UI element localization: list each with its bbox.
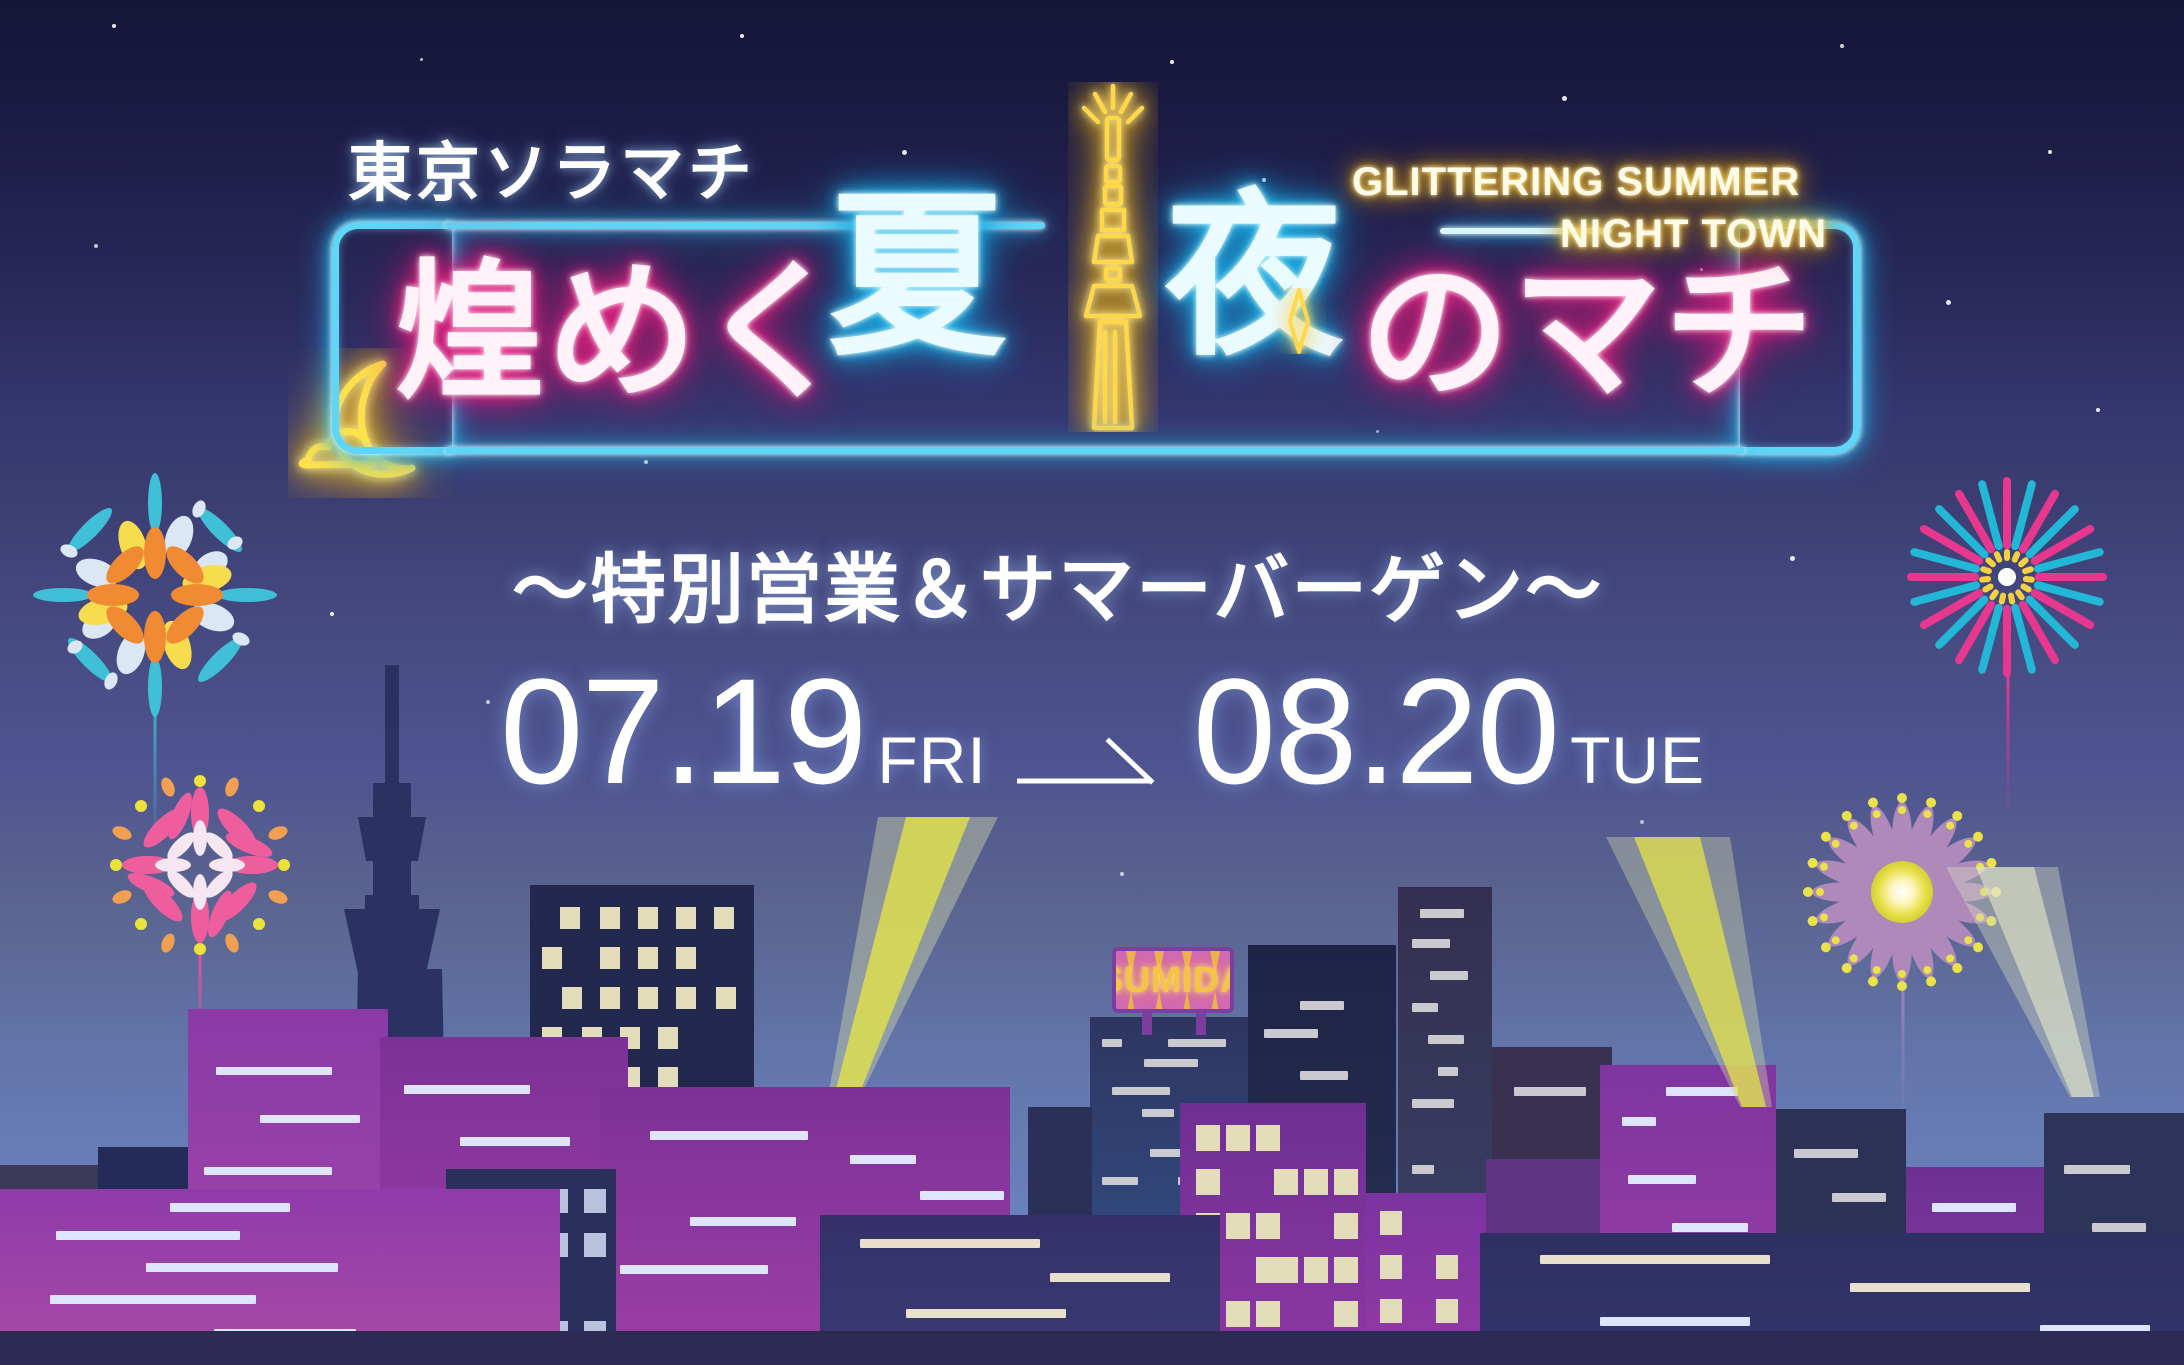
promo-banner: 東京ソラマチ 煌めく 夏 夜 のマチ GLITTERING SUMMER NIG… [0,0,2184,1365]
brand-name: 東京ソラマチ [348,122,756,214]
searchlight-beam-right-2 [1930,867,2110,1097]
sumida-sign-text: SUMIDA [1116,951,1230,1009]
sumida-billboard: SUMIDA [1112,947,1234,1013]
ground-strip [0,1331,2184,1365]
english-tagline-line-1: GLITTERING SUMMER [1352,160,1800,205]
title-part-natsu: 夏 [828,188,1008,366]
english-tagline-line-2: NIGHT TOWN [1560,212,1827,257]
tokyo-skytree-neon-icon [1068,82,1158,432]
title-part-no-machi: のマチ [1360,258,1816,408]
title-part-kirameku: 煌めく [395,258,851,408]
city-skyline: SUMIDA [0,665,2184,1365]
sparkle-diamond-icon [1272,288,1326,354]
neon-frame-bottom-bar [445,447,1745,454]
searchlight-beam-left [820,817,1010,1097]
subtitle: 〜特別営業＆サマーバーゲン〜 [512,528,1603,638]
searchlight-beam-right-1 [1590,837,1780,1107]
